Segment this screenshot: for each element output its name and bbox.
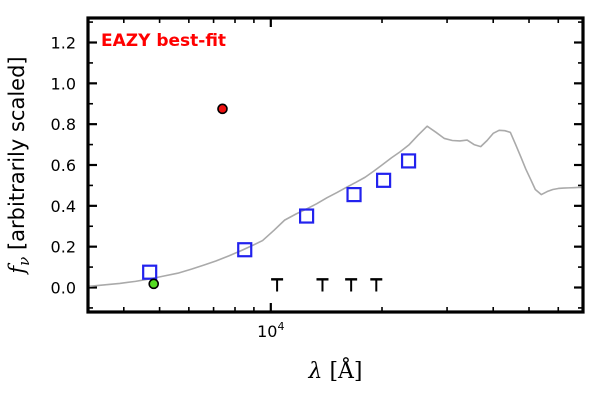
y-axis-label: fν [arbitrarily scaled]	[5, 56, 33, 275]
x-tick-label-exponent: 4	[277, 320, 284, 333]
y-tick-label: 1.0	[51, 74, 76, 93]
sed-plot: 0.00.20.40.60.81.01.2104λ [Å]fν [arbitra…	[0, 0, 600, 400]
y-axis-label-subscript: ν	[15, 257, 33, 266]
figure-canvas: 0.00.20.40.60.81.01.2104λ [Å]fν [arbitra…	[0, 0, 600, 400]
y-tick-label: 1.2	[51, 34, 76, 53]
y-tick-label: 0.0	[51, 279, 76, 298]
discrepant-band-marker	[218, 104, 227, 113]
y-tick-label: 0.8	[51, 115, 76, 134]
y-axis-label-units: [arbitrarily scaled]	[5, 56, 29, 256]
x-axis-label: λ [Å]	[308, 356, 363, 384]
low-significance-marker	[149, 279, 158, 288]
y-tick-label: 0.4	[51, 197, 76, 216]
x-axis-label-units: [Å]	[322, 356, 362, 384]
y-tick-label: 0.2	[51, 238, 76, 257]
plot-background	[0, 0, 600, 400]
y-tick-label: 0.6	[51, 156, 76, 175]
